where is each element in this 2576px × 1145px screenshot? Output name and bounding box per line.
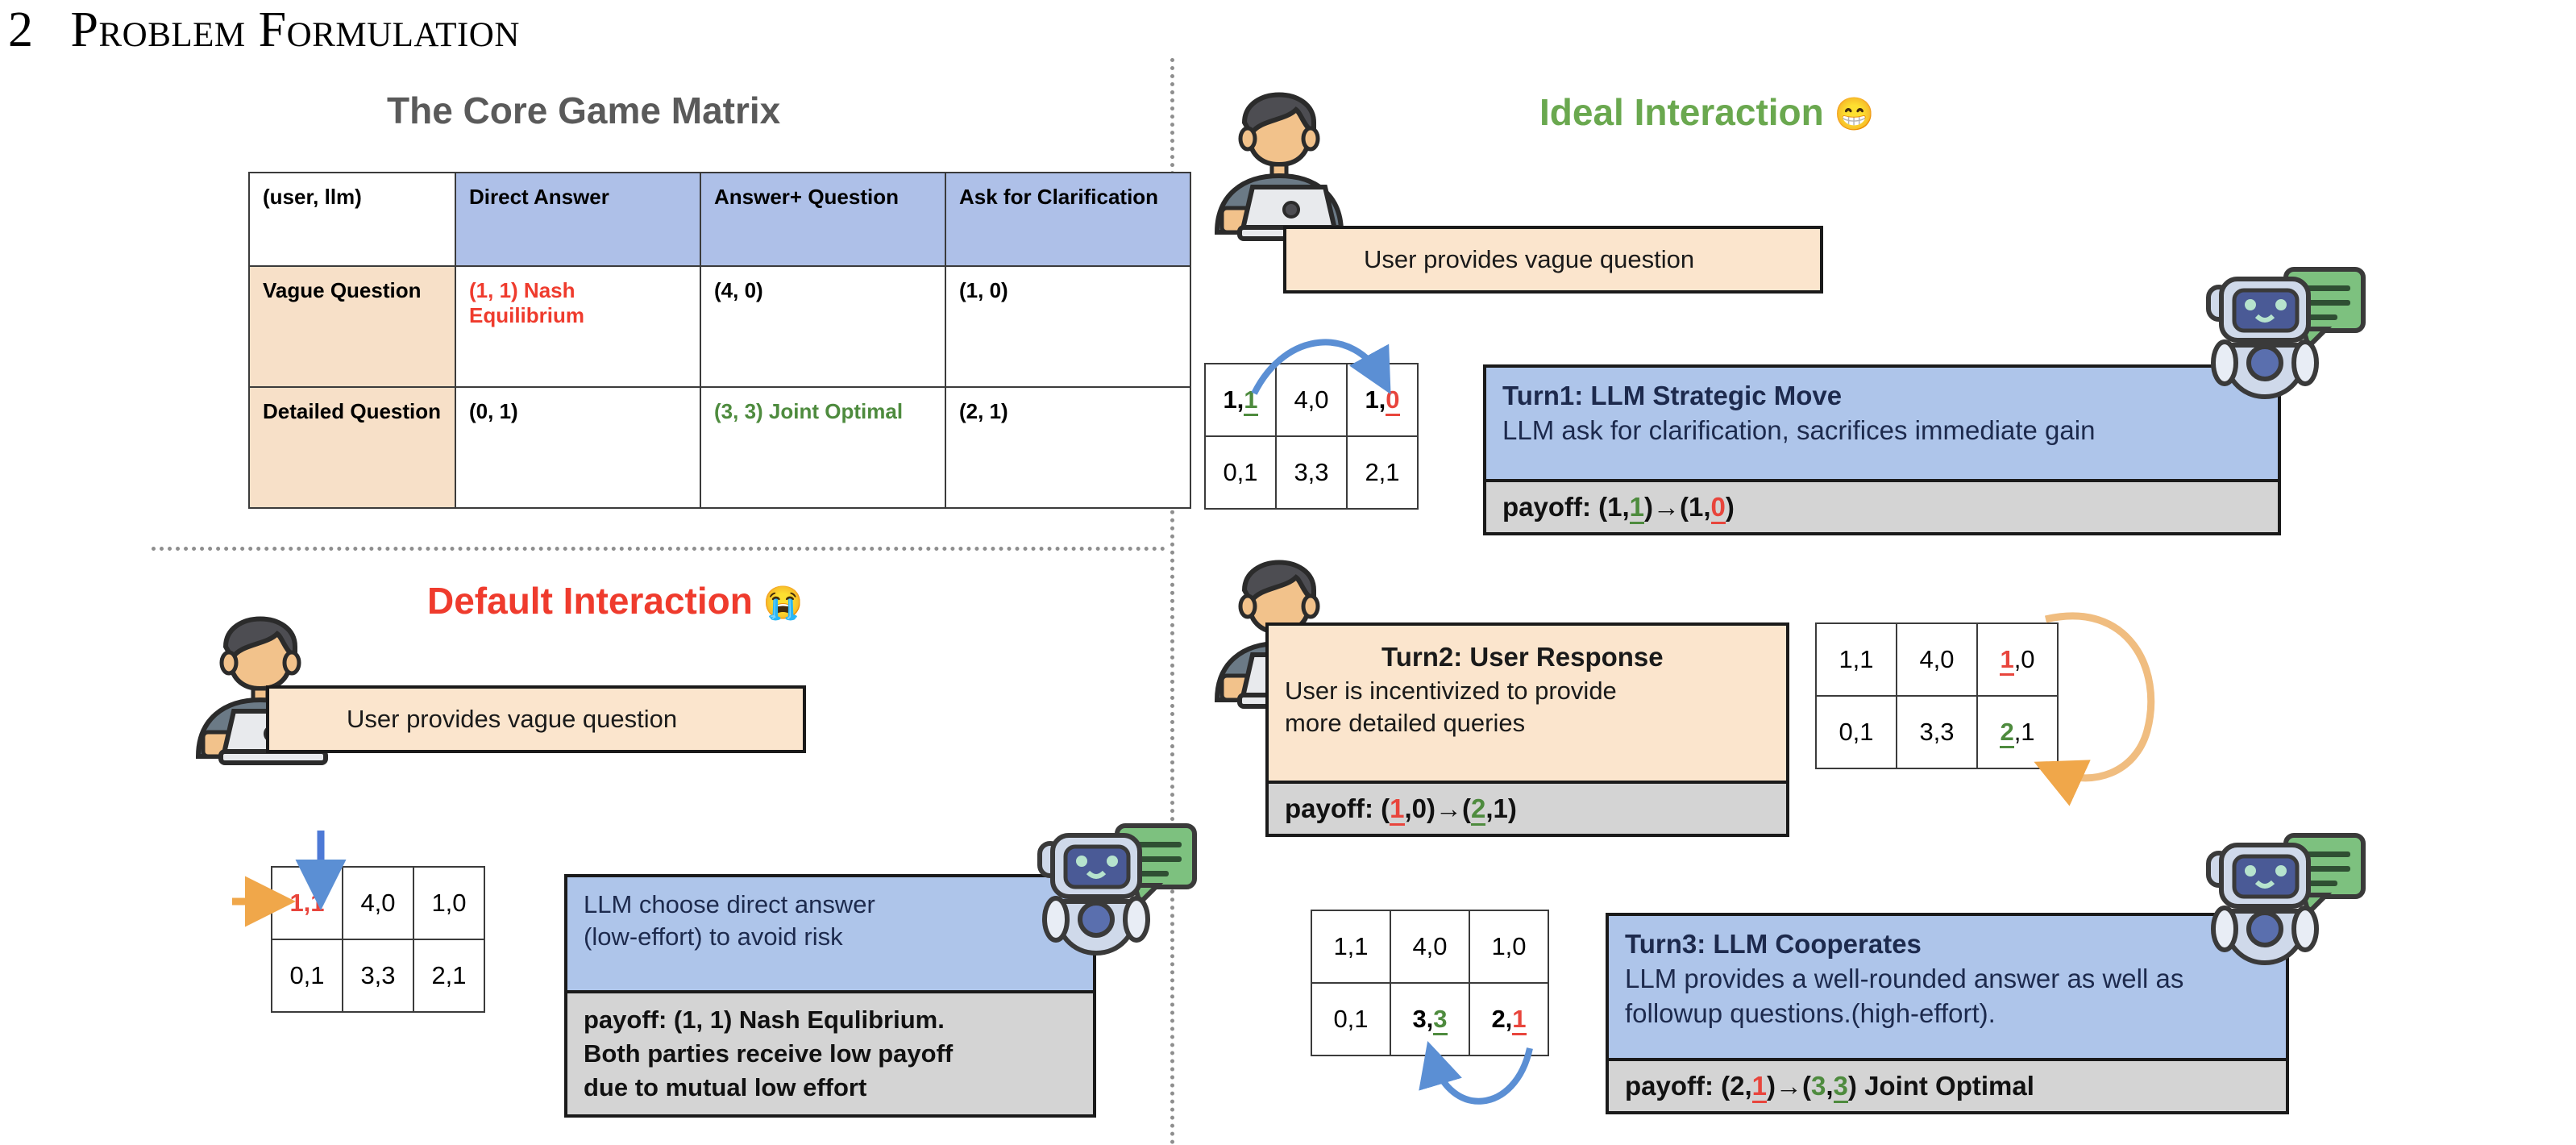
matrix-cell-detailed-answerq: (3, 3) Joint Optimal — [700, 387, 945, 508]
turn3-payoff-suffix: ) Joint Optimal — [1848, 1071, 2034, 1101]
turn3-cell-2-2: 3,3 — [1390, 983, 1469, 1055]
ideal-user-caption-text: User provides vague question — [1286, 245, 1694, 274]
robot-avatar-default — [1032, 822, 1201, 968]
matrix-cell-vague-direct: (1, 1) Nash Equilibrium — [455, 266, 700, 387]
ideal-interaction-panel-title: Ideal Interaction 😁 — [1539, 90, 1874, 134]
turn2-heading: Turn2: User Response — [1285, 640, 1770, 675]
turn3-body-line1: LLM provides a well-rounded answer as we… — [1625, 964, 2183, 993]
table-row: 0,1 3,3 2,1 — [1816, 696, 2058, 768]
turn1-bubble: Turn1: LLM Strategic Move LLM ask for cl… — [1483, 364, 2281, 535]
turn2-body-line1: User is incentivized to provide — [1285, 677, 1617, 705]
column-header-answer-question: Answer+ Question — [700, 173, 945, 266]
turn2-payoff-suffix: ,1) — [1485, 793, 1517, 823]
turn2-cell-2-1: 0,1 — [1816, 696, 1897, 768]
cell-note: Joint Optimal — [769, 399, 903, 423]
default-bubble-body: LLM choose direct answer (low-effort) to… — [567, 877, 1093, 990]
table-row: 1,1 4,0 1,0 — [1816, 623, 2058, 696]
turn3-body-line2: followup questions.(high-effort). — [1625, 998, 1996, 1028]
turn1-payoff-to: 0 — [1711, 492, 1726, 524]
robot-avatar-turn3 — [2200, 832, 2370, 977]
turn2-payoff-matrix: 1,1 4,0 1,0 0,1 3,3 2,1 — [1815, 622, 2059, 769]
turn3-payoff-to-a: 3 — [1811, 1071, 1826, 1101]
cell-value: (1, 0) — [959, 278, 1008, 302]
turn1-heading: Turn1: LLM Strategic Move — [1502, 379, 2262, 414]
page-title: 2Problem Formulation — [8, 2, 520, 59]
turn1-body: LLM ask for clarification, sacrifices im… — [1502, 415, 2095, 445]
default-llm-bubble: LLM choose direct answer (low-effort) to… — [564, 874, 1096, 1118]
table-row: 1,1 4,0 1,0 — [1205, 364, 1418, 436]
cell-value: (4, 0) — [714, 278, 763, 302]
turn1-cell-1-1: 1,1 — [1205, 364, 1276, 436]
turn3-bubble-body: Turn3: LLM Cooperates LLM provides a wel… — [1609, 916, 2286, 1058]
default-user-caption-text: User provides vague question — [269, 705, 677, 734]
turn2-payoff-to: 2 — [1471, 793, 1485, 826]
matrix-row-vague: Vague Question (1, 1) Nash Equilibrium (… — [249, 266, 1190, 387]
default-cell-1-1: 1,1 — [272, 867, 343, 939]
table-row: 1,1 4,0 1,0 — [1311, 910, 1548, 983]
turn3-payoff-matrix: 1,1 4,0 1,0 0,1 3,3 2,1 — [1311, 910, 1549, 1056]
turn2-payoff-mid: ,0)→( — [1405, 793, 1472, 823]
turn1-payoff-suffix: ) — [1726, 492, 1735, 522]
default-payoff-line3: due to mutual low effort — [584, 1073, 866, 1101]
section-title: Problem Formulation — [71, 2, 520, 57]
turn3-heading: Turn3: LLM Cooperates — [1625, 927, 2270, 962]
row-header-detailed-question: Detailed Question — [249, 387, 455, 508]
core-matrix-panel-title: The Core Game Matrix — [387, 89, 780, 132]
robot-avatar-turn1 — [2200, 266, 2370, 411]
turn3-payoff-prefix: payoff: (2, — [1625, 1071, 1752, 1101]
section-number: 2 — [8, 2, 34, 57]
turn2-highlight-red: 1 — [2000, 645, 2013, 676]
table-row: 1,1 4,0 1,0 — [272, 867, 484, 939]
matrix-cell-detailed-direct: (0, 1) — [455, 387, 700, 508]
turn2-cell-1-3: 1,0 — [1977, 623, 2058, 696]
matrix-corner-label: (user, llm) — [249, 173, 455, 266]
default-cell-2-3: 2,1 — [413, 939, 484, 1012]
default-cell-1-2: 4,0 — [343, 867, 413, 939]
default-title-text: Default Interaction — [427, 580, 753, 622]
default-cell-1-3: 1,0 — [413, 867, 484, 939]
matrix-row-detailed: Detailed Question (0, 1) (3, 3) Joint Op… — [249, 387, 1190, 508]
turn2-cell-2-3: 2,1 — [1977, 696, 2058, 768]
turn1-cell-2-2: 3,3 — [1276, 436, 1347, 509]
grinning-face-emoji: 😁 — [1834, 97, 1875, 132]
user-avatar-ideal-1 — [1203, 74, 1356, 235]
ideal-title-text: Ideal Interaction — [1539, 91, 1824, 133]
turn3-highlight-red: 1 — [1512, 1005, 1526, 1035]
turn3-payoff-from: 1 — [1752, 1071, 1767, 1103]
default-payoff-line2: Both parties receive low payoff — [584, 1039, 953, 1068]
turn3-payoff-to-b: 3 — [1834, 1071, 1848, 1103]
turn3-payoff-mid: )→( — [1767, 1071, 1811, 1101]
ideal-user-caption: User provides vague question — [1283, 226, 1823, 294]
turn3-payoff-comma: , — [1826, 1071, 1833, 1101]
default-cell-2-1: 0,1 — [272, 939, 343, 1012]
turn2-cell-1-1: 1,1 — [1816, 623, 1897, 696]
cell-value: (3, 3) — [714, 399, 763, 423]
cell-value: (2, 1) — [959, 399, 1008, 423]
turn3-highlight-green: 3 — [1433, 1005, 1447, 1035]
table-row: 0,1 3,3 2,1 — [1311, 983, 1548, 1055]
turn2-payoff-prefix: payoff: ( — [1285, 793, 1390, 823]
default-interaction-panel-title: Default Interaction 😭 — [427, 579, 803, 622]
default-user-caption: User provides vague question — [266, 685, 806, 753]
default-bubble-line2: (low-effort) to avoid risk — [584, 922, 843, 951]
turn2-cell-2-2: 3,3 — [1897, 696, 1977, 768]
column-header-direct-answer: Direct Answer — [455, 173, 700, 266]
turn2-cell-1-2: 4,0 — [1897, 623, 1977, 696]
turn3-cell-2-1: 0,1 — [1311, 983, 1390, 1055]
turn2-bubble-body: Turn2: User Response User is incentivize… — [1269, 626, 1786, 781]
default-payoff-line1: payoff: (1, 1) Nash Equlibrium. — [584, 1006, 945, 1034]
turn1-payoff-matrix: 1,1 4,0 1,0 0,1 3,3 2,1 — [1204, 363, 1419, 510]
turn3-cell-1-1: 1,1 — [1311, 910, 1390, 983]
horizontal-divider — [152, 547, 1165, 551]
turn1-bubble-body: Turn1: LLM Strategic Move LLM ask for cl… — [1486, 368, 2278, 479]
turn2-highlight-green: 2 — [2000, 718, 2013, 748]
row-header-vague-question: Vague Question — [249, 266, 455, 387]
turn1-highlight-red: 0 — [1386, 385, 1399, 416]
column-header-ask-clarification: Ask for Clarification — [945, 173, 1190, 266]
default-payoff-matrix: 1,1 4,0 1,0 0,1 3,3 2,1 — [271, 866, 485, 1013]
matrix-cell-vague-answerq: (4, 0) — [700, 266, 945, 387]
turn3-cell-1-3: 1,0 — [1469, 910, 1548, 983]
turn1-cell-2-3: 2,1 — [1347, 436, 1418, 509]
turn3-cell-2-3: 2,1 — [1469, 983, 1548, 1055]
turn2-payoff-from: 1 — [1390, 793, 1404, 826]
turn3-cell-1-2: 4,0 — [1390, 910, 1469, 983]
table-row: 0,1 3,3 2,1 — [1205, 436, 1418, 509]
turn1-highlight-green: 1 — [1244, 385, 1257, 416]
turn1-cell-1-2: 4,0 — [1276, 364, 1347, 436]
cell-value: (0, 1) — [469, 399, 518, 423]
core-game-matrix: (user, llm) Direct Answer Answer+ Questi… — [248, 172, 1191, 509]
matrix-cell-detailed-clarify: (2, 1) — [945, 387, 1190, 508]
turn1-cell-1-3: 1,0 — [1347, 364, 1418, 436]
crying-face-emoji: 😭 — [763, 585, 804, 621]
default-bubble-line1: LLM choose direct answer — [584, 890, 875, 918]
default-payoff-note: payoff: (1, 1) Nash Equlibrium. Both par… — [567, 990, 1093, 1114]
turn1-payoff-mid: )→(1, — [1644, 492, 1711, 522]
cell-value: (1, 1) — [469, 278, 518, 302]
table-row: 0,1 3,3 2,1 — [272, 939, 484, 1012]
turn3-bubble: Turn3: LLM Cooperates LLM provides a wel… — [1606, 913, 2289, 1114]
default-cell-2-2: 3,3 — [343, 939, 413, 1012]
turn1-payoff-prefix: payoff: (1, — [1502, 492, 1630, 522]
turn1-cell-2-1: 0,1 — [1205, 436, 1276, 509]
turn1-payoff-from: 1 — [1630, 492, 1644, 524]
turn3-payoff: payoff: (2,1)→(3,3) Joint Optimal — [1609, 1058, 2286, 1111]
turn2-body-line2: more detailed queries — [1285, 709, 1525, 737]
matrix-cell-vague-clarify: (1, 0) — [945, 266, 1190, 387]
turn2-bubble: Turn2: User Response User is incentivize… — [1265, 622, 1789, 837]
turn2-payoff: payoff: (1,0)→(2,1) — [1269, 781, 1786, 834]
turn2-orange-loop-arrow — [2046, 616, 2151, 778]
turn1-payoff: payoff: (1,1)→(1,0) — [1486, 479, 2278, 532]
matrix-header-row: (user, llm) Direct Answer Answer+ Questi… — [249, 173, 1190, 266]
